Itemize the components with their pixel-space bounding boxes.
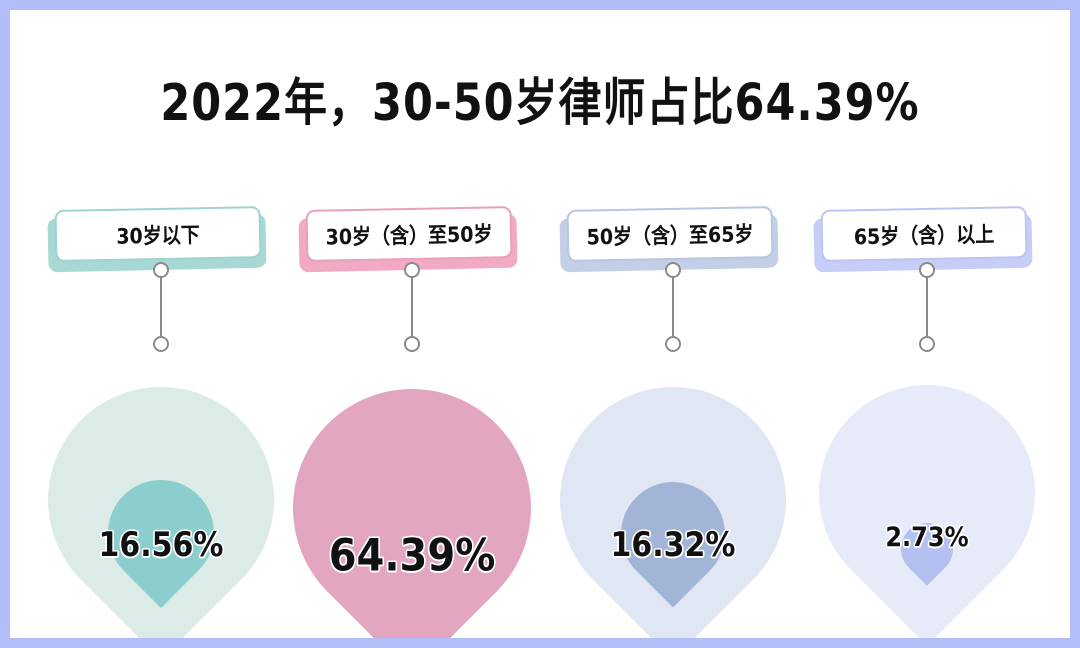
value-label-3: 2.73% bbox=[798, 521, 1056, 552]
value-label-0: 16.56% bbox=[32, 526, 290, 565]
group-column-2: 50岁（含）至65岁 16.32% bbox=[544, 10, 802, 638]
drop-outer-1 bbox=[244, 340, 581, 638]
infographic-canvas: 2022年，30-50岁律师占比64.39% 30岁以下 16.56% 30岁（… bbox=[10, 10, 1070, 638]
label-text-1: 30岁（含）至50岁 bbox=[325, 217, 492, 250]
group-column-1: 30岁（含）至50岁 64.39% bbox=[283, 10, 541, 638]
drop-group-2: 16.32% bbox=[544, 340, 802, 630]
category-label-3[interactable]: 65岁（含）以上 bbox=[810, 208, 1032, 270]
label-box-0: 30岁以下 bbox=[55, 206, 262, 262]
drop-group-1: 64.39% bbox=[283, 340, 541, 630]
category-label-0[interactable]: 30岁以下 bbox=[44, 208, 266, 270]
group-column-0: 30岁以下 16.56% bbox=[32, 10, 290, 638]
drop-outer-3 bbox=[774, 340, 1070, 638]
group-column-3: 65岁（含）以上 2.73% bbox=[798, 10, 1056, 638]
label-text-2: 50岁（含）至65岁 bbox=[586, 217, 753, 250]
label-box-1: 30岁（含）至50岁 bbox=[306, 206, 513, 262]
category-label-2[interactable]: 50岁（含）至65岁 bbox=[556, 208, 778, 270]
drop-group-0: 16.56% bbox=[32, 340, 290, 630]
drop-group-3: 2.73% bbox=[798, 340, 1056, 630]
label-text-0: 30岁以下 bbox=[116, 218, 200, 250]
label-text-3: 65岁（含）以上 bbox=[853, 218, 994, 251]
label-box-2: 50岁（含）至65岁 bbox=[567, 206, 774, 262]
category-label-1[interactable]: 30岁（含）至50岁 bbox=[295, 208, 517, 270]
value-label-1: 64.39% bbox=[283, 530, 541, 582]
value-label-2: 16.32% bbox=[544, 526, 802, 565]
label-box-3: 65岁（含）以上 bbox=[821, 206, 1028, 262]
